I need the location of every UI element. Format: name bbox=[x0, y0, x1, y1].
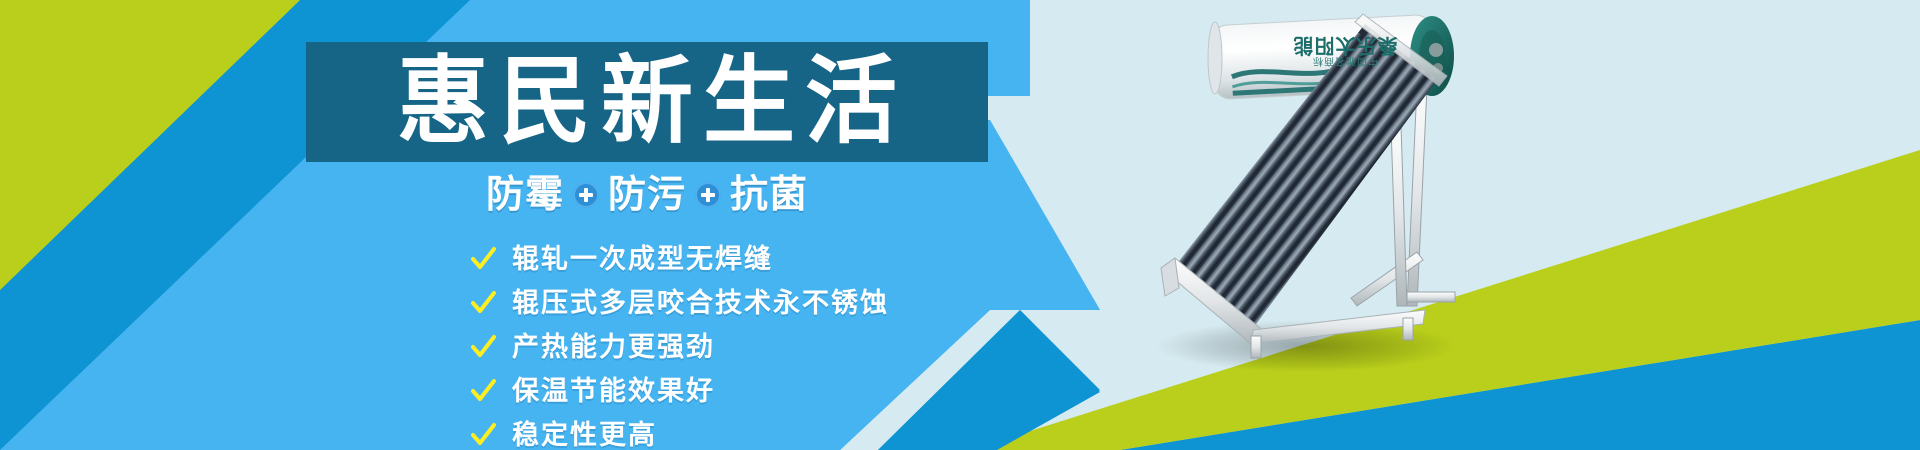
list-item: 保温节能效果好 bbox=[470, 372, 889, 410]
check-icon bbox=[470, 334, 496, 360]
title-box: 惠民新生活 bbox=[306, 42, 988, 162]
subtitle-row: 防霉 防污 抗菌 bbox=[306, 176, 988, 214]
plus-circle-icon bbox=[695, 182, 721, 208]
feature-label: 辊轧一次成型无焊缝 bbox=[512, 246, 773, 273]
feature-list: 辊轧一次成型无焊缝 辊压式多层咬合技术永不锈蚀 产热能力更强劲 保温节能效果好 bbox=[470, 240, 889, 450]
promo-banner: 惠民新生活 防霉 防污 抗菌 辊轧一次成型无焊缝 辊压式多层咬合技术永不锈蚀 产… bbox=[0, 0, 1920, 450]
feature-label: 保温节能效果好 bbox=[512, 378, 715, 405]
page-title: 惠民新生活 bbox=[387, 54, 907, 150]
check-icon bbox=[470, 290, 496, 316]
list-item: 辊轧一次成型无焊缝 bbox=[470, 240, 889, 278]
feature-label: 辊压式多层咬合技术永不锈蚀 bbox=[512, 290, 889, 317]
list-item: 辊压式多层咬合技术永不锈蚀 bbox=[470, 284, 889, 322]
plus-circle-icon bbox=[573, 182, 599, 208]
solar-water-heater-image bbox=[1155, 6, 1515, 406]
feature-label: 产热能力更强劲 bbox=[512, 334, 715, 361]
check-icon bbox=[470, 378, 496, 404]
subtitle-word-1: 防霉 bbox=[486, 176, 564, 214]
subtitle-word-3: 抗菌 bbox=[730, 176, 808, 214]
check-icon bbox=[470, 246, 496, 272]
list-item: 稳定性更高 bbox=[470, 416, 889, 450]
subtitle-word-2: 防污 bbox=[608, 176, 686, 214]
check-icon bbox=[470, 422, 496, 448]
list-item: 产热能力更强劲 bbox=[470, 328, 889, 366]
feature-label: 稳定性更高 bbox=[512, 422, 657, 449]
